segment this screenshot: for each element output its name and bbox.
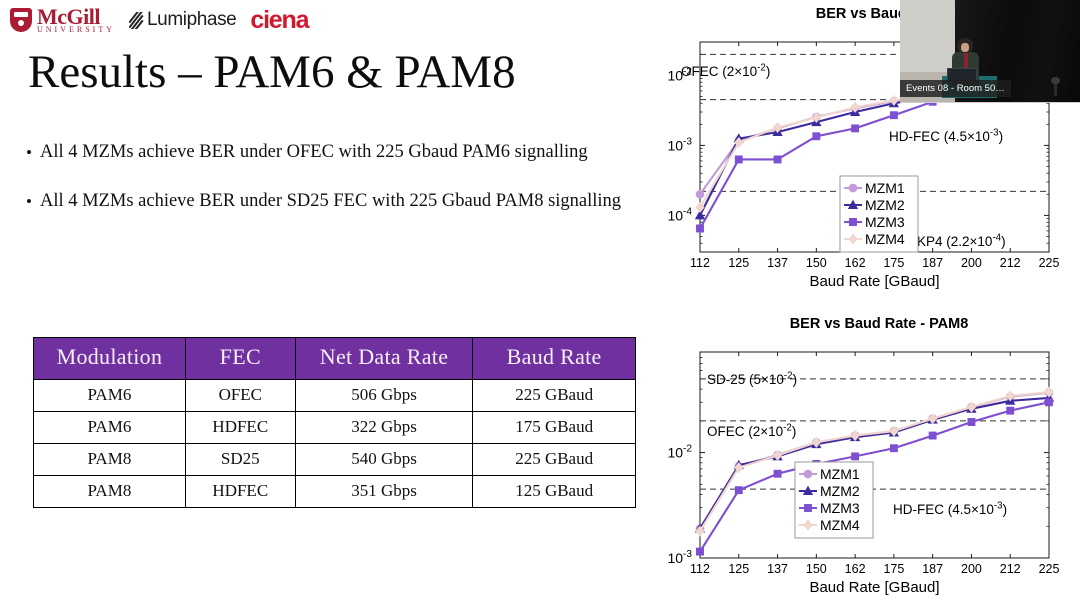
results-table: Modulation FEC Net Data Rate Baud Rate P… — [33, 337, 636, 508]
svg-text:Baud Rate [GBaud]: Baud Rate [GBaud] — [809, 273, 939, 290]
chart-title: BER vs Baud Rate - PAM8 — [681, 316, 1077, 332]
table-cell: OFEC — [185, 380, 295, 412]
list-item: • All 4 MZMs achieve BER under OFEC with… — [18, 140, 638, 165]
table-cell: 351 Gbps — [295, 476, 473, 508]
lumiphase-logo: Lumiphase — [129, 9, 236, 31]
svg-text:212: 212 — [1000, 562, 1021, 576]
table-row: PAM8 SD25 540 Gbps 225 GBaud — [34, 444, 636, 476]
svg-text:187: 187 — [922, 256, 943, 270]
svg-text:HD-FEC (4.5×10-3): HD-FEC (4.5×10-3) — [893, 500, 1007, 517]
svg-text:125: 125 — [728, 562, 749, 576]
svg-text:MZM4: MZM4 — [820, 517, 860, 533]
table-header-row: Modulation FEC Net Data Rate Baud Rate — [34, 338, 636, 380]
svg-text:MZM2: MZM2 — [820, 483, 860, 499]
svg-text:137: 137 — [767, 562, 788, 576]
svg-text:162: 162 — [845, 562, 866, 576]
svg-text:MZM4: MZM4 — [865, 231, 905, 247]
table-cell: HDFEC — [185, 412, 295, 444]
table-cell: PAM8 — [34, 476, 186, 508]
table-cell: 540 Gbps — [295, 444, 473, 476]
svg-text:150: 150 — [806, 562, 827, 576]
lumiphase-wordmark: Lumiphase — [147, 9, 236, 31]
svg-text:SD-25 (5×10-2): SD-25 (5×10-2) — [707, 370, 797, 387]
svg-text:225: 225 — [1039, 562, 1060, 576]
svg-text:200: 200 — [961, 256, 982, 270]
table-row: PAM6 OFEC 506 Gbps 225 GBaud — [34, 380, 636, 412]
svg-text:137: 137 — [767, 256, 788, 270]
svg-text:MZM1: MZM1 — [865, 180, 905, 196]
table-row: PAM8 HDFEC 351 Gbps 125 GBaud — [34, 476, 636, 508]
table-cell: PAM6 — [34, 412, 186, 444]
table-cell: 322 Gbps — [295, 412, 473, 444]
svg-text:175: 175 — [883, 562, 904, 576]
svg-text:125: 125 — [728, 256, 749, 270]
svg-text:112: 112 — [690, 562, 710, 576]
page-title: Results – PAM6 & PAM8 — [28, 45, 516, 99]
table-cell: 175 GBaud — [473, 412, 636, 444]
svg-text:150: 150 — [806, 256, 827, 270]
video-overlay[interactable]: Events 08 - Room 50… — [900, 0, 1080, 103]
table-cell: SD25 — [185, 444, 295, 476]
svg-text:200: 200 — [961, 562, 982, 576]
logo-bar: McGill UNIVERSITY Lumiphase ciena — [10, 4, 308, 36]
svg-text:MZM3: MZM3 — [865, 214, 905, 230]
svg-text:MZM2: MZM2 — [865, 197, 905, 213]
table-cell: 506 Gbps — [295, 380, 473, 412]
table-cell: HDFEC — [185, 476, 295, 508]
table-header-cell: Baud Rate — [473, 338, 636, 380]
svg-text:112: 112 — [690, 256, 710, 270]
svg-text:HD-FEC (4.5×10-3): HD-FEC (4.5×10-3) — [889, 127, 1003, 144]
svg-text:10-3: 10-3 — [667, 137, 692, 154]
svg-text:10-2: 10-2 — [667, 444, 692, 461]
table-cell: PAM6 — [34, 380, 186, 412]
svg-text:187: 187 — [922, 562, 943, 576]
table-header-cell: Net Data Rate — [295, 338, 473, 380]
mcgill-logo: McGill UNIVERSITY — [10, 6, 115, 34]
mcgill-subtitle: UNIVERSITY — [37, 26, 115, 34]
bullet-text: All 4 MZMs achieve BER under SD25 FEC wi… — [40, 189, 621, 214]
table-cell: 125 GBaud — [473, 476, 636, 508]
ciena-logo: ciena — [250, 6, 308, 35]
table-cell: PAM8 — [34, 444, 186, 476]
svg-text:212: 212 — [1000, 256, 1021, 270]
svg-text:MZM1: MZM1 — [820, 466, 860, 482]
table-header-cell: Modulation — [34, 338, 186, 380]
svg-text:MZM3: MZM3 — [820, 500, 860, 516]
video-microphone-icon — [1054, 82, 1057, 96]
bullet-list: • All 4 MZMs achieve BER under OFEC with… — [18, 140, 638, 238]
table-cell: 225 GBaud — [473, 380, 636, 412]
svg-text:KP4 (2.2×10-4): KP4 (2.2×10-4) — [917, 232, 1006, 249]
lumiphase-mark-icon — [129, 12, 145, 29]
svg-text:162: 162 — [845, 256, 866, 270]
svg-text:175: 175 — [883, 256, 904, 270]
bullet-marker-icon: • — [18, 189, 40, 214]
video-speaker-face — [961, 43, 969, 52]
chart-ber-vs-baud-rate-pam8: BER vs Baud Rate - PAM8 1121251371501621… — [645, 312, 1077, 608]
svg-text:OFEC (2×10-2): OFEC (2×10-2) — [707, 422, 796, 439]
chart-canvas-pam8: 11212513715016217518720021222510-310-2SD… — [645, 334, 1077, 610]
bullet-text: All 4 MZMs achieve BER under OFEC with 2… — [40, 140, 588, 165]
svg-text:10-4: 10-4 — [667, 207, 692, 224]
svg-text:OFEC (2×10-2): OFEC (2×10-2) — [681, 62, 770, 79]
svg-text:Baud Rate [GBaud]: Baud Rate [GBaud] — [809, 579, 939, 596]
mcgill-shield-icon — [10, 8, 32, 32]
svg-text:10-3: 10-3 — [667, 549, 692, 566]
bullet-marker-icon: • — [18, 140, 40, 165]
list-item: • All 4 MZMs achieve BER under SD25 FEC … — [18, 189, 638, 214]
table-row: PAM6 HDFEC 322 Gbps 175 GBaud — [34, 412, 636, 444]
table-header-cell: FEC — [185, 338, 295, 380]
video-caption: Events 08 - Room 50… — [900, 80, 1011, 97]
table-cell: 225 GBaud — [473, 444, 636, 476]
svg-text:225: 225 — [1039, 256, 1060, 270]
